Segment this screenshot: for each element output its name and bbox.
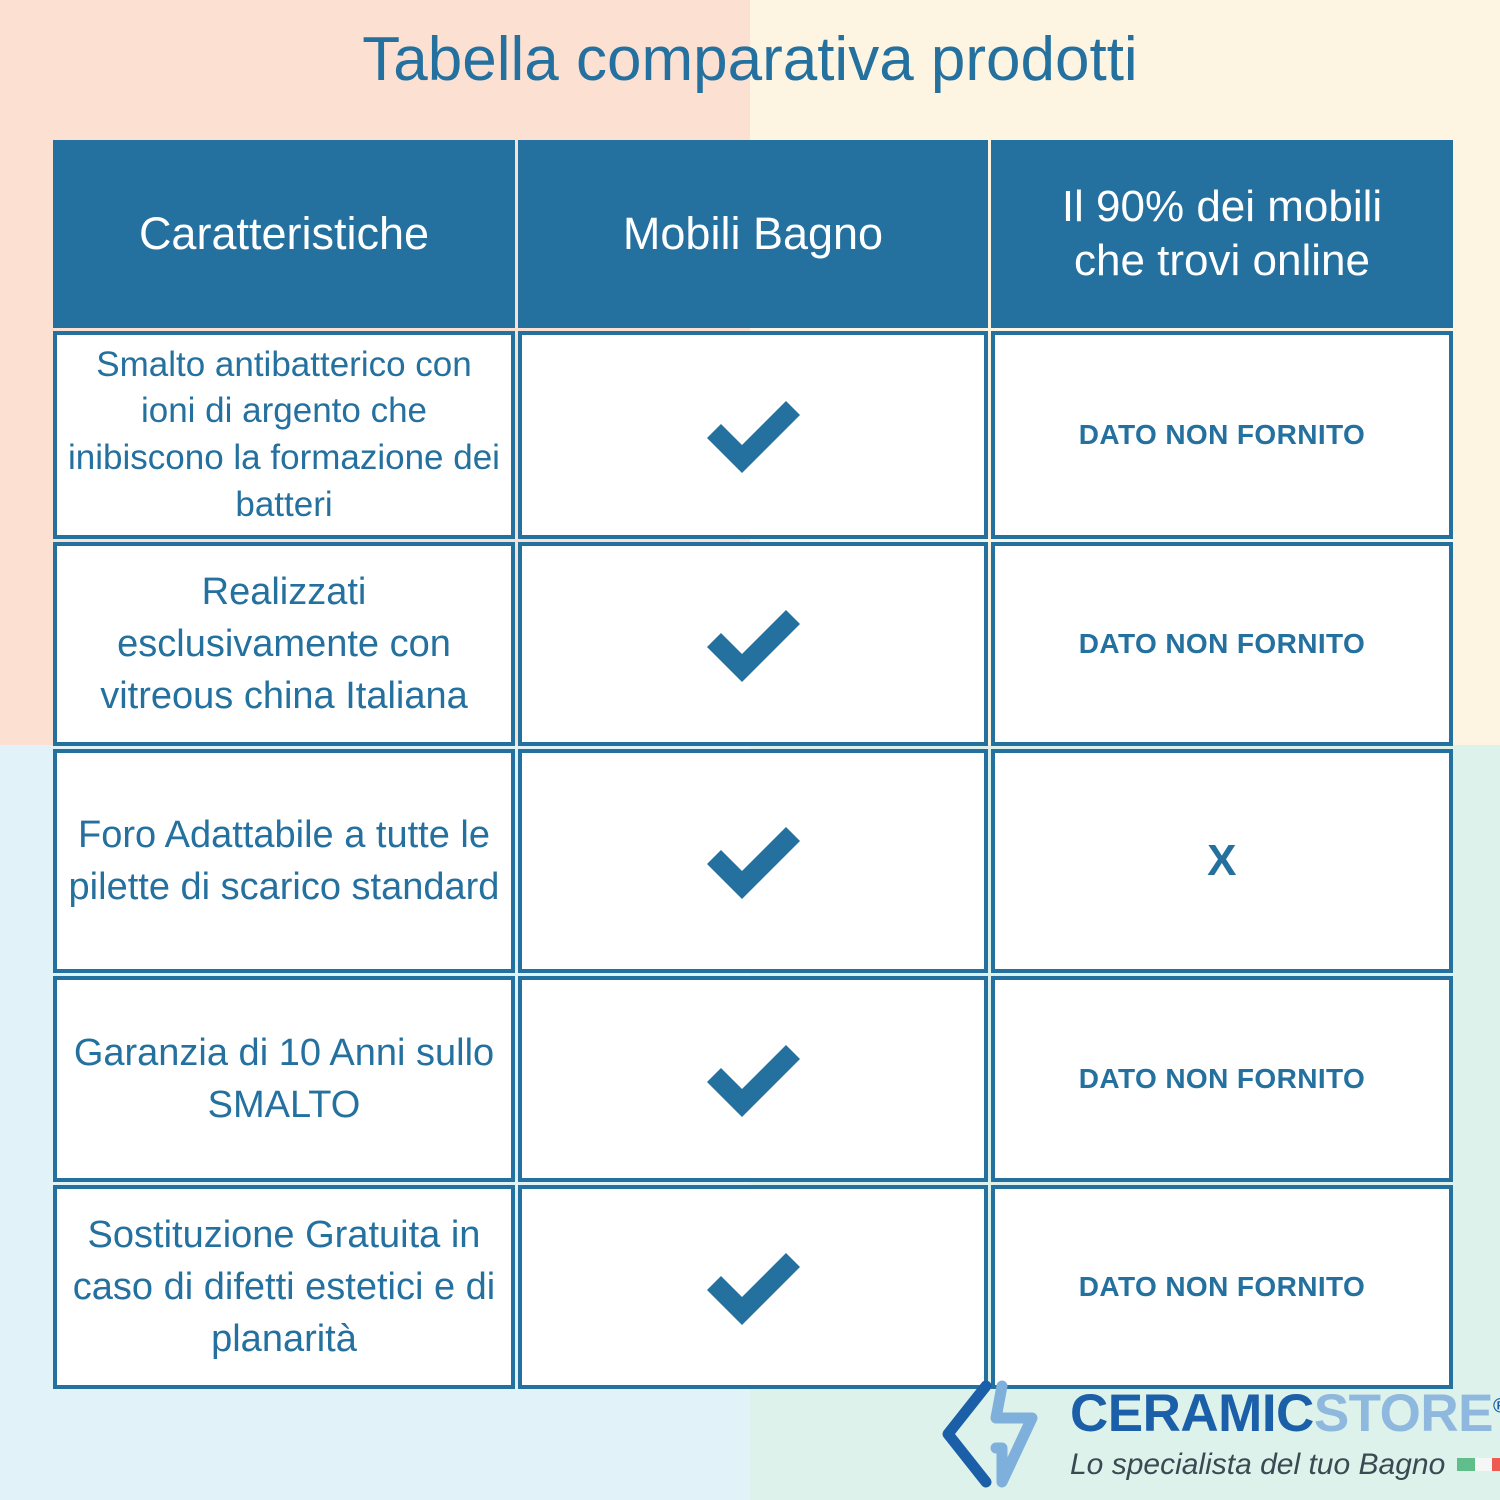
online-cell: DATO NON FORNITO: [991, 976, 1453, 1182]
mobili-bagno-cell: [518, 1185, 988, 1389]
ceramicstore-logo-icon: [940, 1378, 1052, 1490]
mobili-bagno-cell: [518, 542, 988, 746]
logo-tagline: Lo specialista del tuo Bagno: [1070, 1448, 1445, 1482]
table-header-row: Caratteristiche Mobili Bagno Il 90% dei …: [53, 140, 1453, 328]
check-icon: [701, 396, 805, 474]
table-header: Caratteristiche Mobili Bagno Il 90% dei …: [53, 140, 1453, 328]
brand-logo: CERAMICSTORE® Lo specialista del tuo Bag…: [940, 1378, 1500, 1490]
column-header-online: Il 90% dei mobili che trovi online: [991, 140, 1453, 328]
check-icon: [701, 1248, 805, 1326]
online-cell: DATO NON FORNITO: [991, 1185, 1453, 1389]
table-row: Realizzati esclusivamente con vitreous c…: [53, 542, 1453, 746]
logo-wordmark: CERAMICSTORE®: [1070, 1387, 1500, 1440]
comparison-table-wrapper: Caratteristiche Mobili Bagno Il 90% dei …: [50, 137, 1450, 1392]
feature-cell: Sostituzione Gratuita in caso di difetti…: [53, 1185, 515, 1389]
mobili-bagno-cell: [518, 331, 988, 539]
table-row: Garanzia di 10 Anni sullo SMALTO DATO NO…: [53, 976, 1453, 1182]
online-cell: DATO NON FORNITO: [991, 331, 1453, 539]
feature-cell: Smalto antibatterico con ioni di argento…: [53, 331, 515, 539]
italian-flag-icon: [1457, 1458, 1500, 1471]
check-icon: [701, 605, 805, 683]
online-cell-x-mark: X: [991, 749, 1453, 973]
check-icon: [701, 822, 805, 900]
mobili-bagno-cell: [518, 749, 988, 973]
feature-cell: Foro Adattabile a tutte le pilette di sc…: [53, 749, 515, 973]
feature-text: Sostituzione Gratuita in caso di difetti…: [67, 1209, 501, 1365]
logo-tagline-row: Lo specialista del tuo Bagno: [1070, 1448, 1500, 1482]
table-row: Foro Adattabile a tutte le pilette di sc…: [53, 749, 1453, 973]
column-header-online-line1: Il 90% dei mobili: [1062, 182, 1382, 231]
logo-word-light: STORE: [1314, 1384, 1493, 1443]
registered-trademark-icon: ®: [1493, 1395, 1500, 1417]
column-header-mobili-bagno: Mobili Bagno: [518, 140, 988, 328]
check-icon: [701, 1040, 805, 1118]
column-header-online-line2: che trovi online: [1074, 236, 1370, 285]
feature-cell: Garanzia di 10 Anni sullo SMALTO: [53, 976, 515, 1182]
table-body: Smalto antibatterico con ioni di argento…: [53, 331, 1453, 1389]
comparison-table: Caratteristiche Mobili Bagno Il 90% dei …: [50, 137, 1456, 1392]
feature-cell: Realizzati esclusivamente con vitreous c…: [53, 542, 515, 746]
logo-text-block: CERAMICSTORE® Lo specialista del tuo Bag…: [1070, 1387, 1500, 1482]
table-row: Sostituzione Gratuita in caso di difetti…: [53, 1185, 1453, 1389]
table-row: Smalto antibatterico con ioni di argento…: [53, 331, 1453, 539]
column-header-caratteristiche: Caratteristiche: [53, 140, 515, 328]
online-cell: DATO NON FORNITO: [991, 542, 1453, 746]
logo-word-dark: CERAMIC: [1070, 1384, 1314, 1443]
page-title: Tabella comparativa prodotti: [0, 26, 1500, 94]
mobili-bagno-cell: [518, 976, 988, 1182]
